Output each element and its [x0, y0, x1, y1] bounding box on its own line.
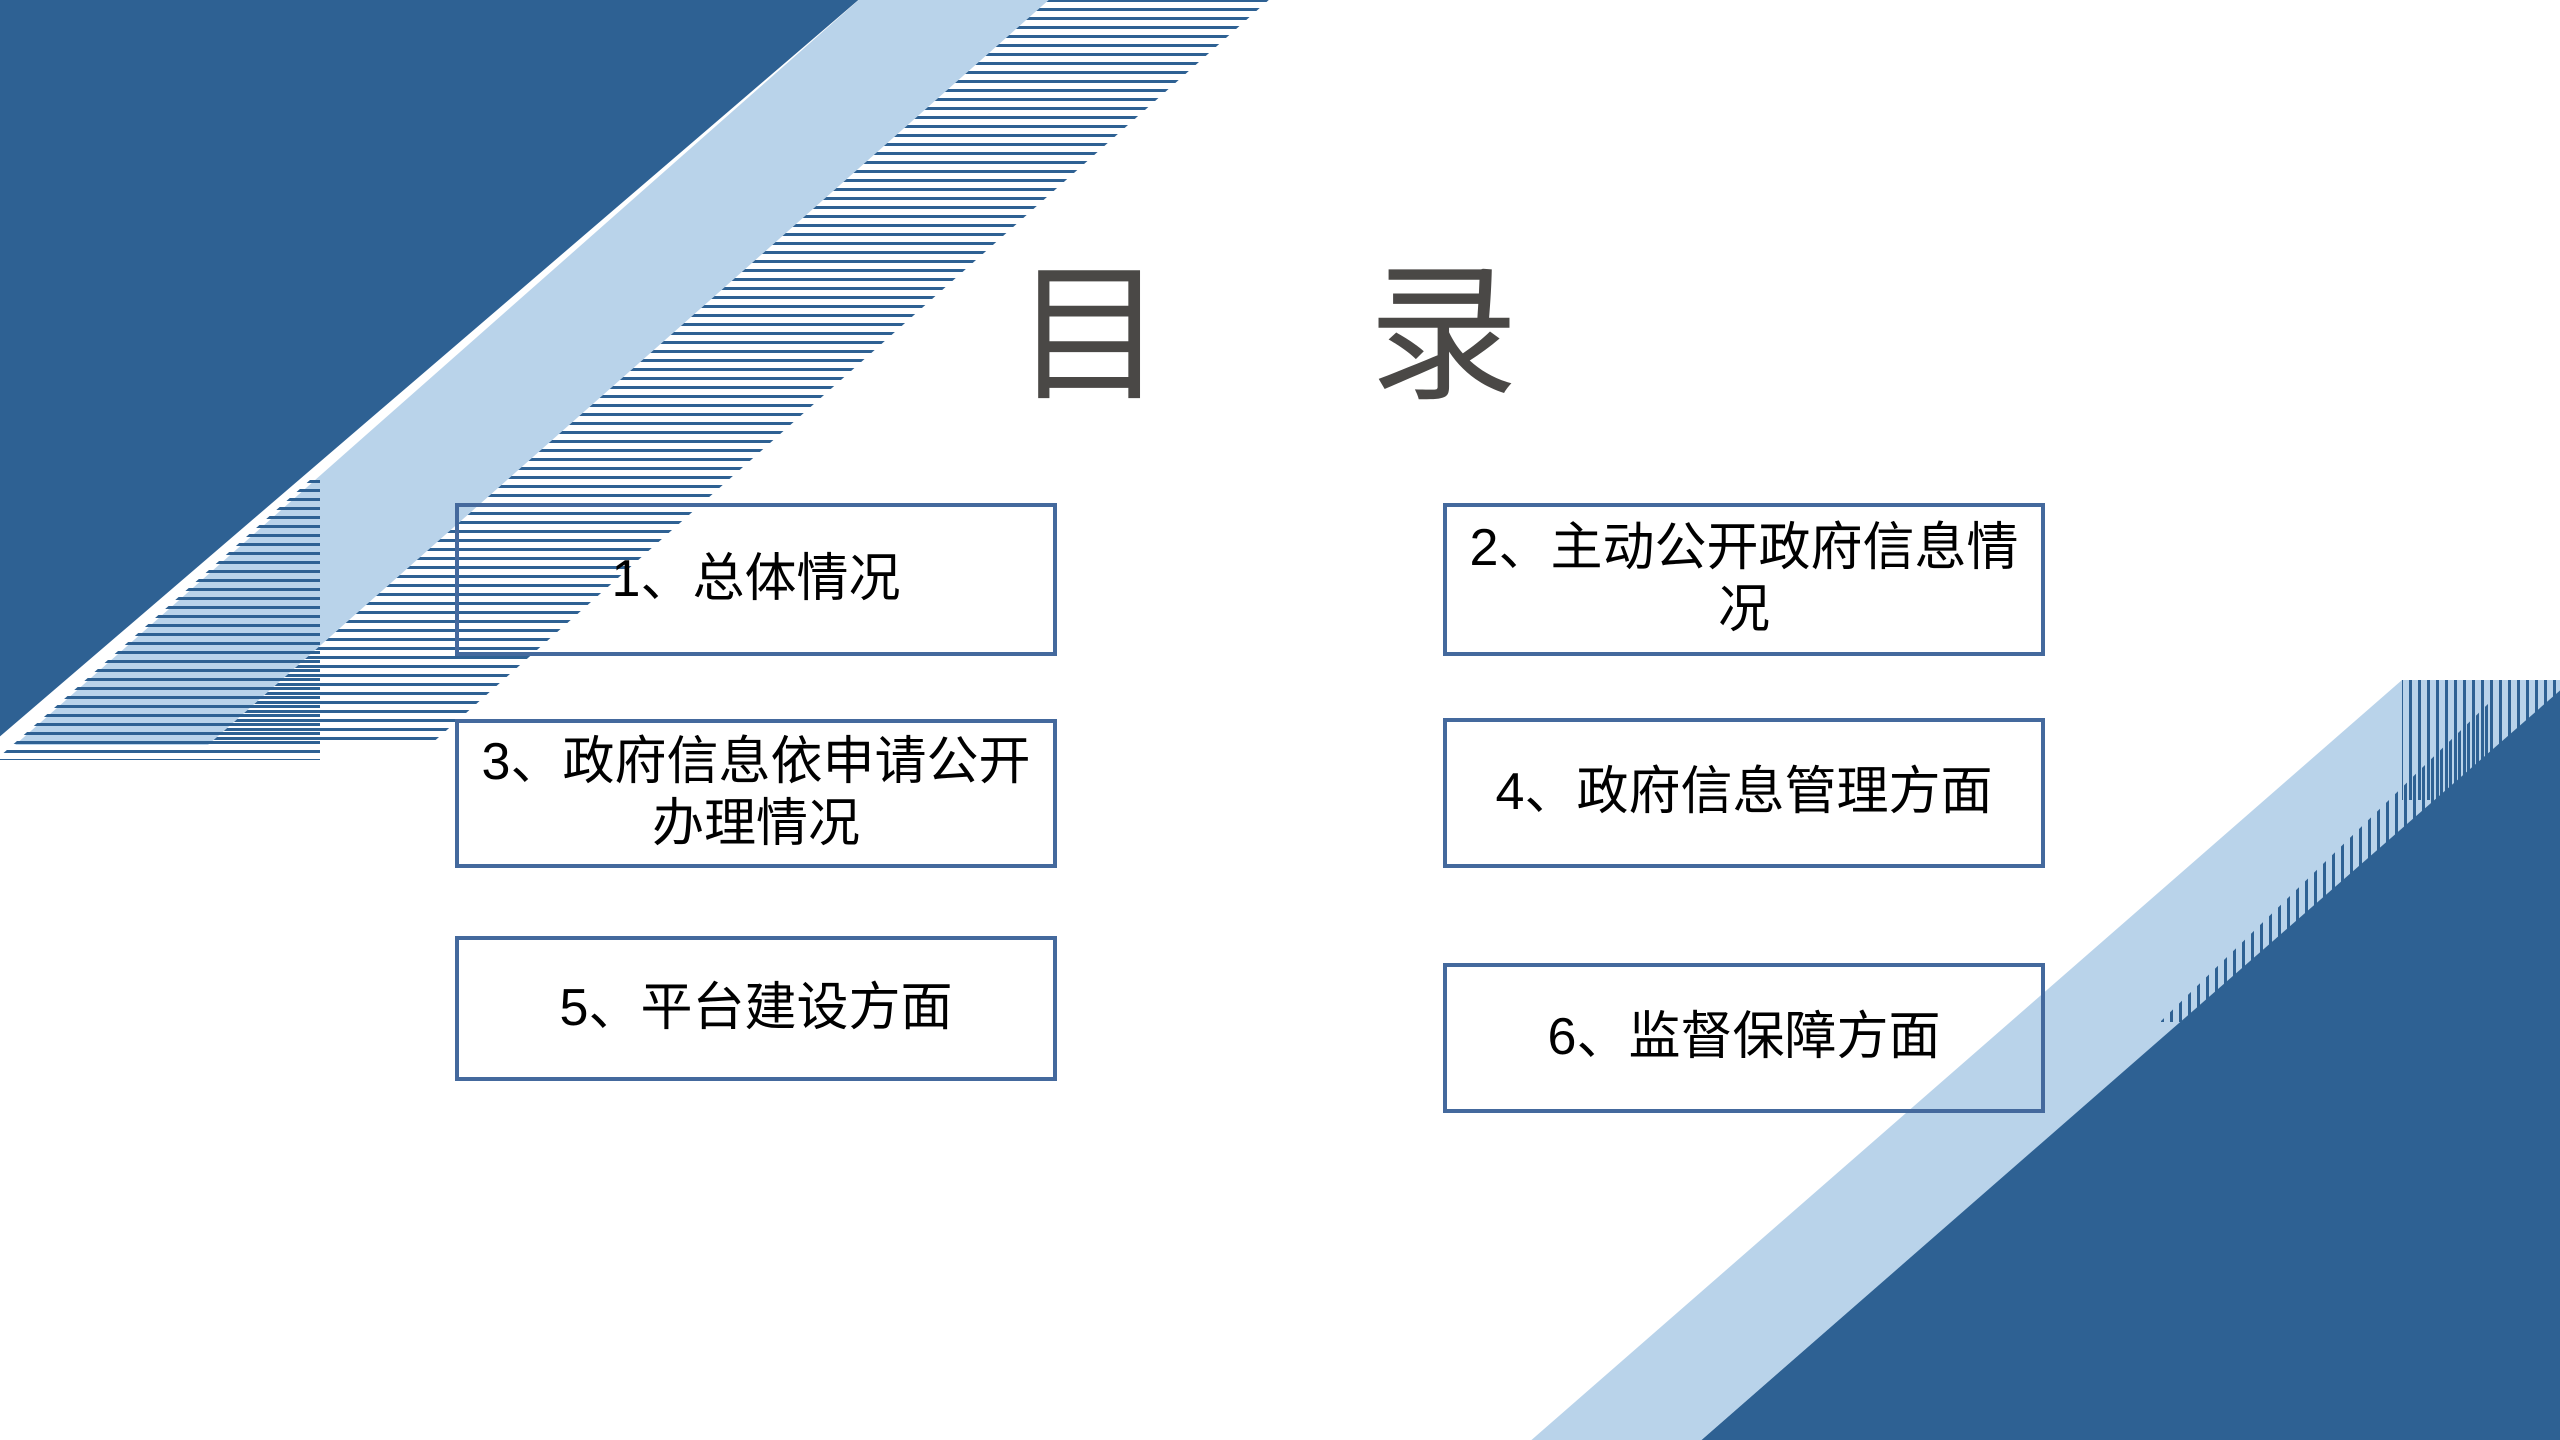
toc-item-1-label: 1、总体情况 — [469, 549, 1043, 610]
toc-item-4[interactable]: 4、政府信息管理方面 — [1443, 718, 2045, 868]
toc-item-3-label: 3、政府信息依申请公开办理情况 — [469, 732, 1043, 855]
toc-item-2-label: 2、主动公开政府信息情况 — [1457, 518, 2031, 641]
toc-item-6[interactable]: 6、监督保障方面 — [1443, 963, 2045, 1113]
toc-item-3[interactable]: 3、政府信息依申请公开办理情况 — [455, 719, 1057, 868]
page-title: 目 录 — [0, 255, 2560, 420]
toc-item-6-label: 6、监督保障方面 — [1457, 1007, 2031, 1068]
toc-item-5[interactable]: 5、平台建设方面 — [455, 936, 1057, 1081]
toc-item-4-label: 4、政府信息管理方面 — [1457, 762, 2031, 823]
toc-item-1[interactable]: 1、总体情况 — [455, 503, 1057, 656]
slide-canvas: 目 录 1、总体情况 2、主动公开政府信息情况 3、政府信息依申请公开办理情况 … — [0, 0, 2560, 1440]
toc-item-5-label: 5、平台建设方面 — [469, 978, 1043, 1039]
hatched-stripes-tail-icon — [0, 480, 490, 760]
hatched-stripes-tail-icon — [1990, 702, 2490, 1022]
toc-item-2[interactable]: 2、主动公开政府信息情况 — [1443, 503, 2045, 656]
